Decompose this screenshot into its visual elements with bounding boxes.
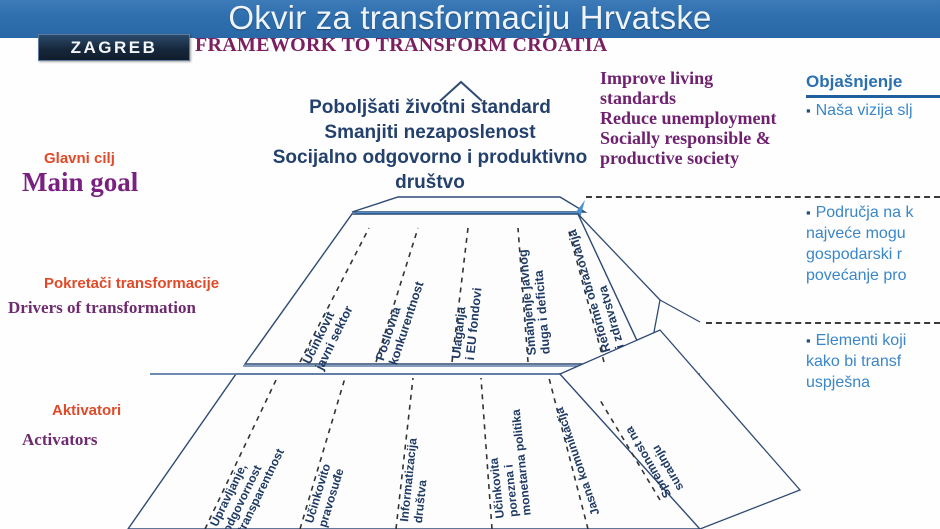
- bullet-icon: ▪: [806, 205, 811, 220]
- explanation-item-2-text: Područja na k najveće mogu gospodarski r…: [806, 204, 913, 284]
- explanation-item-1-text: Naša vizija slj: [816, 102, 913, 119]
- pyramid-top-plateau: [352, 197, 585, 212]
- bullet-icon: ▪: [806, 333, 811, 348]
- explanation-item-1: ▪Naša vizija slj: [806, 100, 913, 121]
- explanation-title-rule: [806, 95, 940, 98]
- slide-canvas: Okvir za transformaciju Hrvatske ZAGREB …: [0, 0, 940, 529]
- explanation-divider-2: [706, 322, 940, 324]
- explanation-divider-1: [586, 196, 940, 198]
- explanation-title: Objašnjenje: [806, 72, 902, 92]
- explanation-item-3-text: Elementi koji kako bi transf uspješna: [806, 332, 906, 391]
- explanation-item-2: ▪Područja na k najveće mogu gospodarski …: [806, 202, 940, 286]
- explanation-item-3: ▪Elementi koji kako bi transf uspješna: [806, 330, 940, 393]
- bullet-icon: ▪: [806, 103, 811, 118]
- flap-connector: [660, 300, 700, 322]
- pyramid-diagram: [0, 0, 940, 529]
